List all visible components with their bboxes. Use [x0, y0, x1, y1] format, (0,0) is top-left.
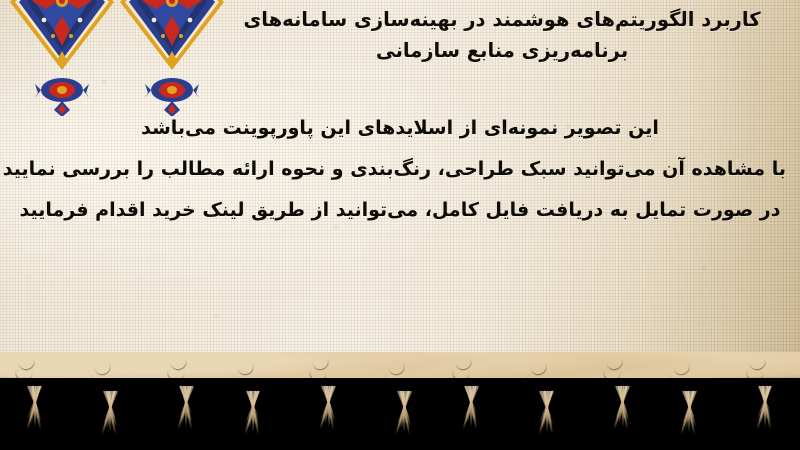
fringe-strands: [315, 386, 349, 434]
body-line-2: با مشاهده آن می‌توانید سبک طراحی، رنگ‌بن…: [14, 149, 786, 190]
slide-title: کاربرد الگوریتم‌های هوشمند در بهینه‌سازی…: [222, 4, 782, 66]
fringe-strands: [21, 386, 55, 434]
fringe-strands: [458, 386, 492, 434]
fringe-strands: [609, 386, 643, 434]
text-layer: کاربرد الگوریتم‌های هوشمند در بهینه‌سازی…: [0, 0, 800, 372]
fringe-strands: [752, 386, 786, 434]
slide-body: این تصویر نمونه‌ای از اسلایدهای این پاور…: [14, 108, 786, 231]
fringe-strands: [533, 391, 567, 439]
slide-canvas: کاربرد الگوریتم‌های هوشمند در بهینه‌سازی…: [0, 0, 800, 450]
fringe-strands: [391, 391, 425, 439]
fringe-strands: [97, 391, 131, 439]
title-line-2: برنامه‌ریزی منابع سازمانی: [222, 35, 782, 66]
carpet-knotted-fringe: [0, 352, 800, 450]
fringe-strands: [240, 391, 274, 439]
body-line-1: این تصویر نمونه‌ای از اسلایدهای این پاور…: [14, 108, 786, 149]
fringe-strands: [676, 391, 710, 439]
fringe-strands: [173, 386, 207, 434]
body-line-3: در صورت تمایل به دریافت فایل کامل، می‌تو…: [14, 190, 786, 231]
title-line-1: کاربرد الگوریتم‌های هوشمند در بهینه‌سازی…: [222, 4, 782, 35]
